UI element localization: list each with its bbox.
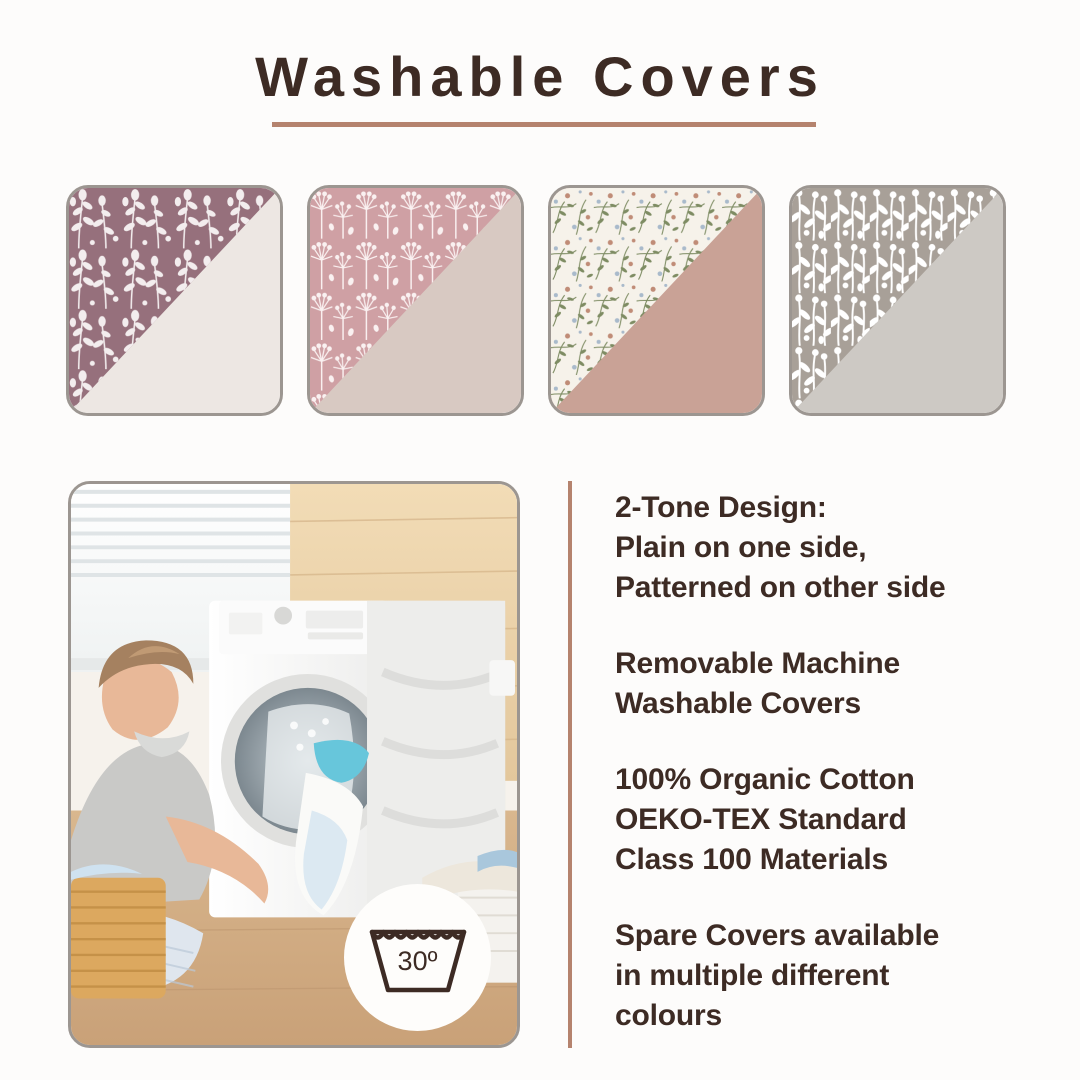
swatch-tile-cream-ditsy-floral[interactable] xyxy=(548,185,765,416)
swatch-tile-taupe-meadow[interactable] xyxy=(789,185,1006,416)
feature-line: 2-Tone Design: xyxy=(615,488,1015,528)
swatch-row xyxy=(66,185,1006,416)
wash-temperature-label: 30º xyxy=(344,884,491,1031)
feature-list: 2-Tone Design: Plain on one side, Patter… xyxy=(615,488,1015,1036)
feature-line: Washable Covers xyxy=(615,684,1015,724)
feature-line: Plain on one side, xyxy=(615,528,1015,568)
feature-line: Removable Machine xyxy=(615,644,1015,684)
feature-line: Class 100 Materials xyxy=(615,840,1015,880)
feature-line: in multiple different xyxy=(615,956,1015,996)
feature-line: 100% Organic Cotton xyxy=(615,760,1015,800)
feature-line: OEKO-TEX Standard xyxy=(615,800,1015,840)
vertical-divider xyxy=(568,481,572,1048)
page-title-container: Washable Covers xyxy=(0,46,1080,108)
swatch-tile-dusty-rose-floral[interactable] xyxy=(307,185,524,416)
feature-line: colours xyxy=(615,996,1015,1036)
feature-line: Spare Covers available xyxy=(615,916,1015,956)
page-title: Washable Covers xyxy=(0,46,1080,108)
swatch-tile-mauve-botanical[interactable] xyxy=(66,185,283,416)
feature-organic-cotton: 100% Organic Cotton OEKO-TEX Standard Cl… xyxy=(615,760,1015,880)
feature-line: Patterned on other side xyxy=(615,568,1015,608)
wash-care-badge: 30º xyxy=(344,884,491,1031)
title-underline-rule xyxy=(272,122,816,127)
feature-spare-covers: Spare Covers available in multiple diffe… xyxy=(615,916,1015,1036)
feature-removable-washable: Removable Machine Washable Covers xyxy=(615,644,1015,724)
feature-two-tone-design: 2-Tone Design: Plain on one side, Patter… xyxy=(615,488,1015,608)
